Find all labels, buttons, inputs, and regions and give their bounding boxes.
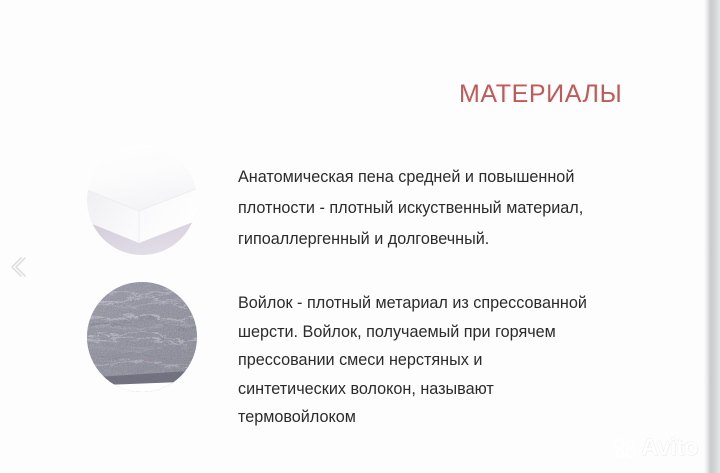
felt-description: Войлок - плотный метариал из спрессованн…	[238, 289, 658, 432]
text-line: Анатомическая пена средней и повышенной	[238, 162, 670, 193]
right-edge-strip	[703, 0, 720, 473]
text-line: прессовании смеси нерстяных и	[238, 346, 658, 375]
felt-photo	[87, 282, 197, 392]
text-line: плотности - плотный искуственный материа…	[238, 193, 670, 224]
double-chevron-left-icon	[8, 254, 28, 280]
text-line: Войлок - плотный метариал из спрессованн…	[238, 289, 658, 318]
text-line: гипоаллергенный и долговечный.	[238, 224, 670, 255]
text-line: синтетических волокон, называют	[238, 375, 658, 404]
text-line: термовойлоком	[238, 403, 658, 432]
avito-watermark: Avito	[613, 435, 698, 461]
avito-watermark-label: Avito	[641, 436, 698, 460]
foam-illustration	[87, 145, 197, 255]
foam-description: Анатомическая пена средней и повышенной …	[238, 162, 670, 255]
slide-canvas: МАТЕРИАЛЫ	[0, 0, 720, 473]
page-title: МАТЕРИАЛЫ	[459, 80, 622, 109]
felt-illustration	[87, 282, 197, 392]
prev-slide-button[interactable]	[6, 250, 30, 284]
avito-logo-icon	[613, 438, 638, 458]
anatomical-foam-photo	[87, 145, 197, 255]
text-line: шерсти. Войлок, получаемый при горячем	[238, 318, 658, 347]
